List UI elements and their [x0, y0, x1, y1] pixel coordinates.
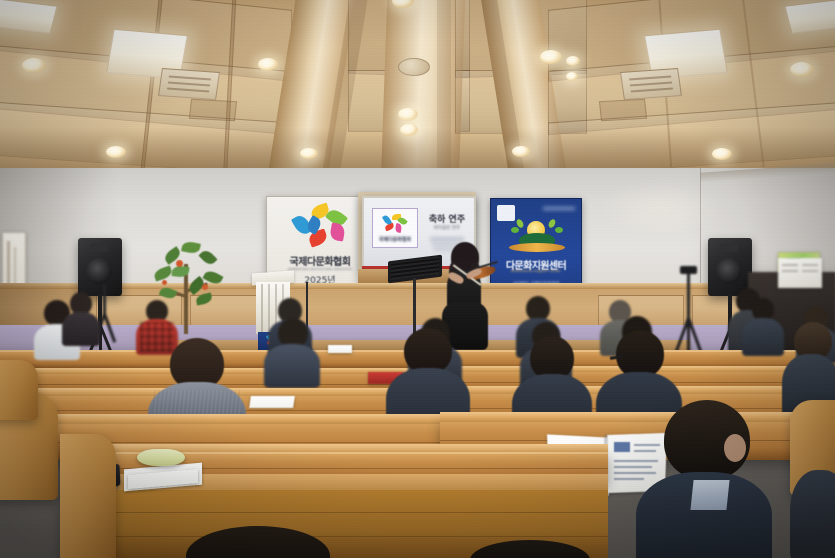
association-logo — [289, 205, 351, 253]
ceiling — [0, 0, 835, 175]
smoke-detector-icon — [398, 58, 430, 76]
attendee — [636, 400, 772, 558]
downlight — [22, 58, 46, 73]
pew-top — [0, 414, 444, 424]
fluorescent-panel — [785, 0, 835, 34]
downlight — [398, 108, 418, 121]
pale-green-pouch — [137, 449, 185, 466]
pew-end-cap — [60, 434, 116, 558]
attendee — [742, 298, 784, 354]
attendee — [264, 318, 320, 384]
photo-scene: 국제다문화협회 INTERNATIONAL MULTICULTURAL ASSO… — [0, 0, 835, 558]
slide-logo-box: 국제다문화협회 — [372, 208, 418, 248]
downlight — [712, 148, 732, 160]
downlight — [566, 72, 578, 81]
downlight — [106, 146, 126, 158]
slide-title: 축하 연주 — [424, 212, 470, 225]
fluorescent-panel — [0, 0, 57, 34]
downlight — [566, 56, 580, 66]
downlight — [790, 62, 814, 77]
handout-sheet — [249, 396, 295, 408]
support-center-name-en: Multicultural Support Center — [491, 269, 581, 273]
downlight — [300, 148, 318, 159]
attendee — [790, 470, 835, 558]
handout-sheet — [328, 345, 352, 353]
slide-logo-caption: 국제다문화협회 — [373, 236, 417, 243]
support-center-logo — [509, 219, 565, 257]
downlight — [540, 50, 562, 64]
downlight — [258, 58, 278, 71]
attendee — [62, 292, 100, 344]
downlight — [512, 146, 530, 157]
ceiling-vent — [620, 68, 682, 100]
ceiling-vent — [158, 68, 220, 100]
association-name-ko: 국제다문화협회 — [275, 253, 365, 268]
downlight — [400, 124, 418, 136]
sheet-music — [778, 258, 822, 288]
pew-end-cap — [0, 360, 38, 420]
slide-subtitle: 바이올린 연주 — [424, 225, 470, 231]
